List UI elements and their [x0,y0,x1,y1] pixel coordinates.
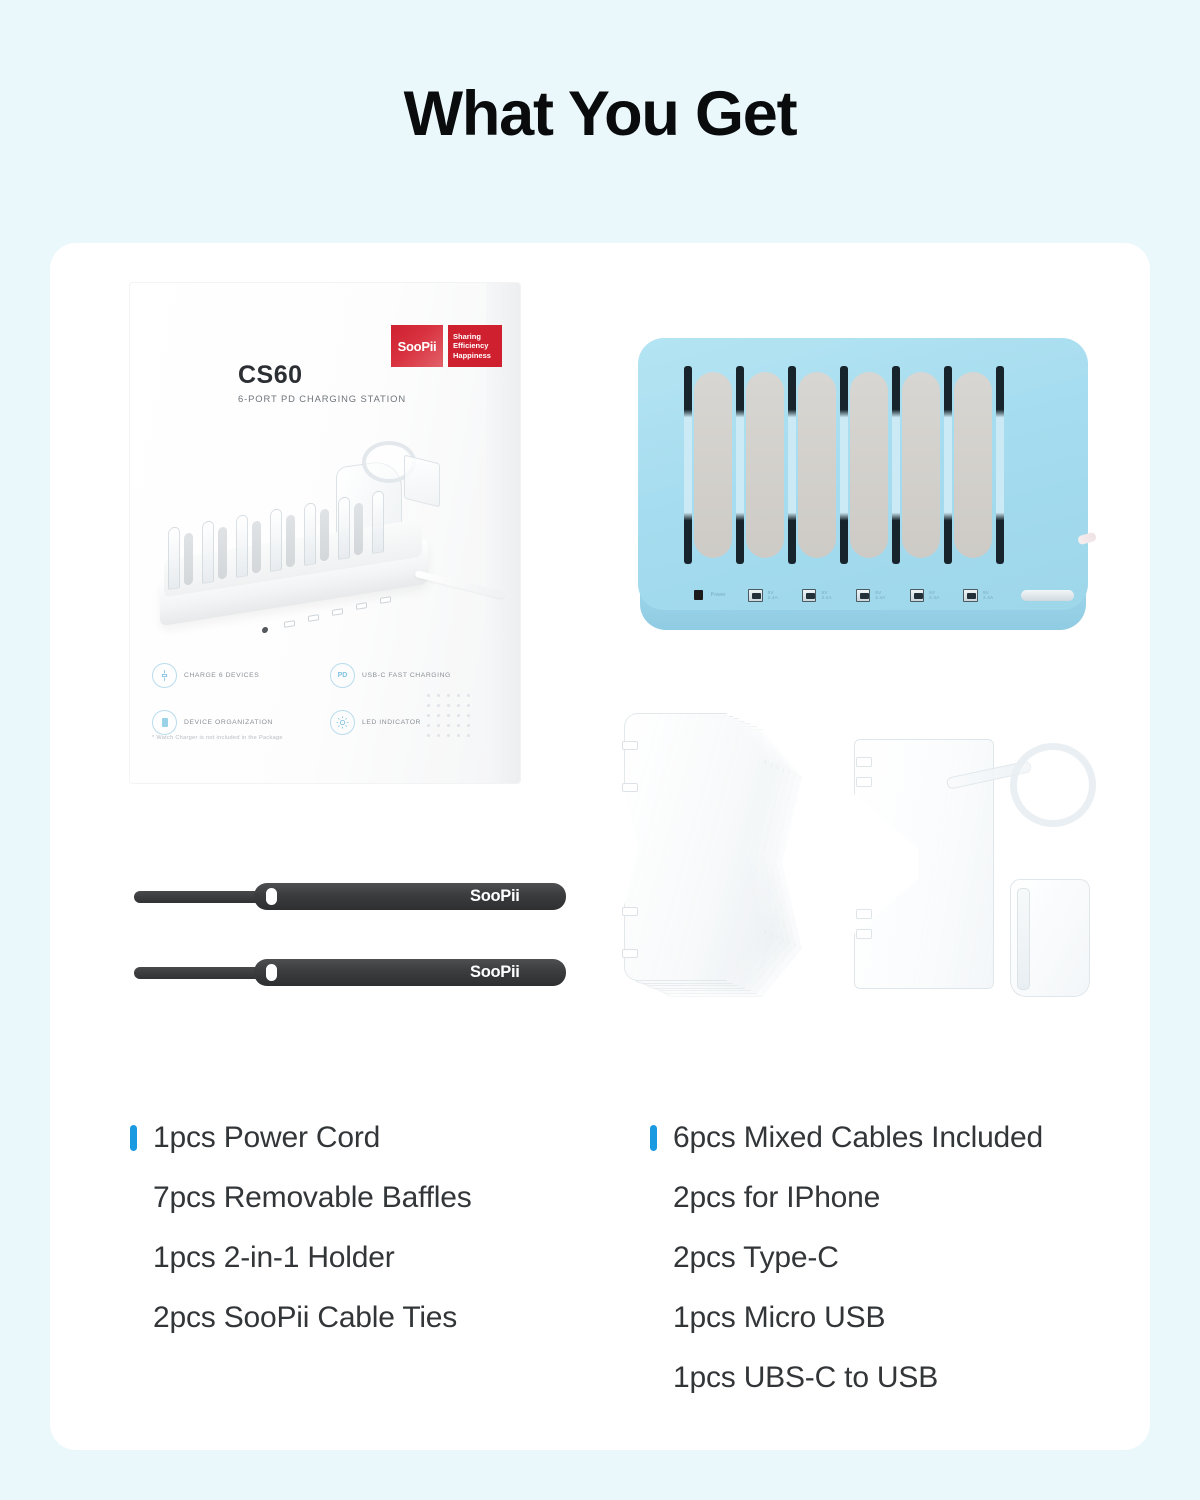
box-brand-row: SooPii Sharing Efficiency Happiness [391,325,502,367]
content-card: SooPii Sharing Efficiency Happiness CS60… [50,243,1150,1450]
list-item: 1pcs Power Cord [130,1108,570,1168]
box-feature-label-0: CHARGE 6 DEVICES [184,672,259,679]
list-item: 1pcs 2-in-1 Holder [130,1228,570,1288]
tagline-line-2: Efficiency [453,341,488,351]
list-bullet-spacer [650,1365,657,1391]
watch-charger-ring [1010,743,1096,827]
box-feature-label-3: LED INDICATOR [362,719,421,726]
list-bullet-spacer [650,1245,657,1271]
list-item-label: 2pcs SooPii Cable Ties [153,1301,457,1335]
contents-lists: 1pcs Power Cord 7pcs Removable Baffles 1… [130,1108,1090,1408]
list-item: 1pcs Micro USB [650,1288,1090,1348]
usb-port-icon [856,589,871,602]
usb-port-label-1: 5V 2.4A [768,590,785,600]
usb-port-label-3: 5V 2.4A [875,590,892,600]
list-bullet-spacer [650,1185,657,1211]
list-item-label: 1pcs Power Cord [153,1121,380,1155]
list-item: 1pcs UBS-C to USB [650,1348,1090,1408]
usb-port-3: 5V 2.4A [856,589,893,602]
box-model-name: CS60 [238,361,303,390]
box-feature-charge-6-devices: CHARGE 6 DEVICES [152,663,312,688]
tagline-line-3: Happiness [453,351,491,361]
list-item-label: 6pcs Mixed Cables Included [673,1121,1043,1155]
tagline-badge: Sharing Efficiency Happiness [448,325,502,367]
usb-port-4: 5V 2.4A [910,589,947,602]
artwork-power-cord [415,570,506,599]
list-item: 2pcs SooPii Cable Ties [130,1288,570,1348]
usb-port-label-2: 5V 2.4A [821,590,838,600]
list-bullet-spacer [130,1305,137,1331]
pd-fast-charge-icon: PD [330,663,355,688]
box-feature-label-1: USB-C FAST CHARGING [362,672,451,679]
box-footnote: * Watch Charger is not included in the P… [152,735,283,741]
power-watt-icon [152,663,177,688]
list-item-label: 2pcs for IPhone [673,1181,880,1215]
list-item-label: 7pcs Removable Baffles [153,1181,472,1215]
usb-port-5: 5V 2.4A [963,589,1000,602]
list-item-label: 1pcs UBS-C to USB [673,1361,938,1395]
list-item-label: 2pcs Type-C [673,1241,839,1275]
usb-port-1: 5V 2.4A [748,589,785,602]
box-subtitle: 6-PORT PD CHARGING STATION [238,393,406,404]
station-top-body [638,338,1088,610]
cable-ties-image: SooPii SooPii [106,883,536,1003]
box-decorative-dots [427,694,474,741]
list-item: 2pcs Type-C [650,1228,1090,1288]
list-item-label: 1pcs Micro USB [673,1301,885,1335]
led-indicator-icon [330,710,355,735]
box-feature-usbc-fast-charging: PD USB-C FAST CHARGING [330,663,490,688]
soopii-logo-badge: SooPii [391,325,443,367]
usb-port-label-5: 5V 2.4A [983,590,1000,600]
two-in-one-holder-image [850,733,1100,1003]
artwork-holder-flap [404,455,440,508]
charging-station-image: Power 5V 2.4A 5V 2.4A 5V 2.4A 5V 2.4A 5V… [638,338,1088,648]
list-bullet-spacer [650,1305,657,1331]
station-slot-area [684,366,1044,564]
product-box-image: SooPii Sharing Efficiency Happiness CS60… [130,283,520,783]
list-bullet [130,1125,137,1151]
cable-tie-brand-1: SooPii [470,887,520,906]
removable-baffles-image [620,713,830,1003]
list-item: 6pcs Mixed Cables Included [650,1108,1090,1168]
usb-port-2: 5V 2.4A [802,589,839,602]
dc-power-port [694,590,703,600]
dc-power-port-label: Power [711,592,726,598]
list-item: 2pcs for IPhone [650,1168,1090,1228]
usb-port-label-4: 5V 2.4A [929,590,946,600]
holder-clip-rail [1017,888,1030,990]
usb-port-icon [910,589,925,602]
cable-tie-brand-2: SooPii [470,963,520,982]
list-bullet-spacer [130,1245,137,1271]
station-port-row: Power 5V 2.4A 5V 2.4A 5V 2.4A 5V 2.4A 5V… [694,583,1074,607]
usb-port-icon [963,589,978,602]
contents-list-left: 1pcs Power Cord 7pcs Removable Baffles 1… [130,1108,570,1408]
box-product-artwork [144,431,506,641]
holder-phone-clip [1010,879,1090,997]
usb-port-icon [802,589,817,602]
list-item-label: 1pcs 2-in-1 Holder [153,1241,395,1275]
list-item: 7pcs Removable Baffles [130,1168,570,1228]
tagline-line-1: Sharing [453,332,481,342]
box-feature-label-2: DEVICE ORGANIZATION [184,719,273,726]
contents-list-right: 6pcs Mixed Cables Included 2pcs for IPho… [650,1108,1090,1408]
list-bullet [650,1125,657,1151]
box-feature-device-organization: DEVICE ORGANIZATION [152,710,312,735]
pd-badge-text: PD [338,672,348,679]
brand-logo-text: SooPii [398,339,437,354]
list-bullet-spacer [130,1185,137,1211]
usb-port-icon [748,589,763,602]
led-indicator-strip [1021,590,1074,601]
device-organization-icon [152,710,177,735]
page-title: What You Get [0,78,1200,150]
